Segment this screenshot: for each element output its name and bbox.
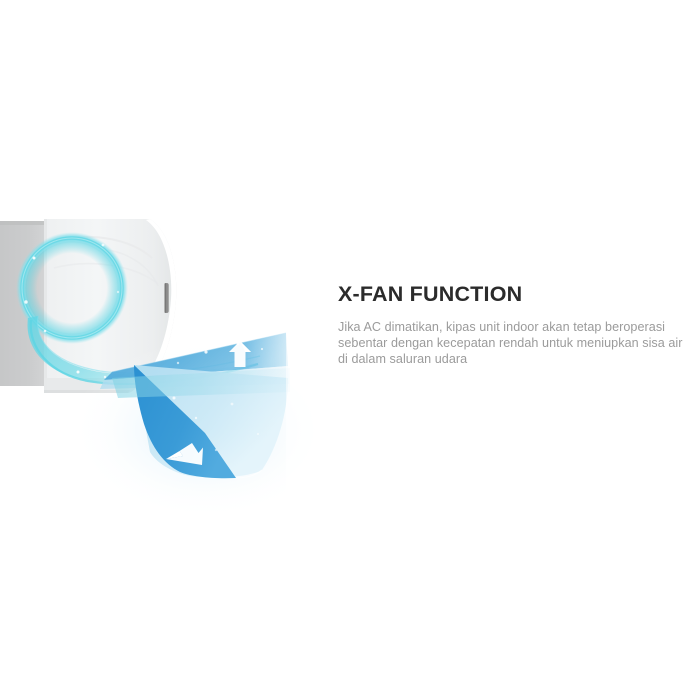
page-title: X-FAN FUNCTION — [338, 281, 690, 308]
x-fan-airflow-illustration — [0, 0, 330, 700]
feature-copy-block: X-FAN FUNCTION Jika AC dimatikan, kipas … — [338, 281, 690, 368]
feature-description: Jika AC dimatikan, kipas unit indoor aka… — [338, 319, 690, 368]
x-fan-function-banner: X-FAN FUNCTION Jika AC dimatikan, kipas … — [0, 0, 700, 700]
